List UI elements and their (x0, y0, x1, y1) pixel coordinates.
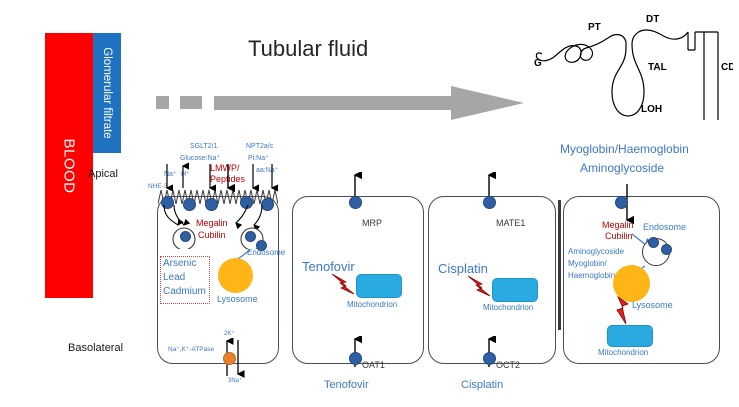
mitochondrion-cell4 (607, 325, 653, 347)
nephron-label-tal: TAL (648, 62, 667, 73)
tubular-fluid-arrow-icon (214, 86, 524, 120)
blood-label: BLOOD (61, 138, 78, 193)
substrate-aminoglycoside: Aminoglycoside (568, 247, 624, 256)
toxin-lead: Lead (163, 272, 185, 283)
substrate-myoglobin: Myoglobin/ (568, 259, 607, 268)
transporter-node-mate1[interactable] (483, 196, 496, 209)
label-oat1: OAT1 (362, 360, 385, 370)
mitochondrion-cisplatin (492, 278, 538, 302)
label-sglt: SGLT2/1 (190, 143, 218, 150)
glomerular-filtrate-compartment: Glomerular filtrate (93, 33, 121, 153)
nephron-label-dt: DT (646, 14, 659, 25)
label-megalin: Megalin (196, 218, 228, 228)
apical-arrows (158, 162, 280, 192)
label-na-k-atpase: Na⁺,K⁺-ATPase (168, 345, 214, 353)
nephron-label-loh: LOH (641, 104, 662, 115)
bottom-label-tenofovir: Tenofovir (324, 379, 369, 391)
label-aminoglycoside-top: Aminoglycoside (580, 161, 664, 175)
label-lysosome-cell1: Lysosome (217, 294, 258, 304)
basolateral-label: Basolateral (68, 342, 123, 354)
label-mitochondrion-cisplatin: Mitochondrion (483, 303, 533, 312)
nephron-label-pt: PT (588, 22, 601, 33)
label-mrp: MRP (362, 218, 382, 228)
arrow-dash-2 (180, 96, 202, 109)
label-mitochondrion-cell4: Mitochondrion (598, 348, 648, 357)
label-oct2: OCT2 (496, 360, 520, 370)
label-myoglobin-haemoglobin: Myoglobin/Haemoglobin (560, 142, 689, 156)
apical-label: Apical (88, 168, 118, 180)
label-cubilin-cell4: Cubilin (605, 231, 633, 241)
lysosome-cell1 (218, 258, 253, 293)
substrate-haemoglobin: Haemoglobin (568, 271, 615, 280)
label-endosome-cell4: Endosome (643, 222, 686, 232)
vesicle-node-right-a (245, 231, 256, 242)
glomerular-filtrate-label: Glomerular filtrate (101, 47, 113, 138)
label-mate1: MATE1 (496, 218, 525, 228)
bottom-label-cisplatin: Cisplatin (461, 379, 503, 391)
label-endosome-cell1: Endosome (247, 248, 285, 257)
label-megalin-cell4: Megalin (602, 220, 634, 230)
endosome-node-b (661, 244, 672, 255)
page-title: Tubular fluid (248, 36, 368, 62)
mitochondrion-tenofovir (356, 274, 402, 298)
label-mitochondrion-tenofovir: Mitochondrion (347, 300, 397, 309)
label-3na: 3Na⁺ (228, 377, 242, 384)
vesicle-node-left (180, 231, 191, 242)
nephron-label-cd: CD (721, 62, 733, 73)
transporter-node-oct2[interactable] (483, 352, 496, 365)
blood-compartment: BLOOD (45, 33, 93, 298)
lightning-bolt-icon-cell4 (612, 296, 634, 328)
arrow-dash-1 (156, 96, 169, 109)
nephron-label-g: G (534, 58, 542, 69)
transporter-node-mrp[interactable] (349, 196, 362, 209)
label-pi-na: Pi:Na⁺ (248, 154, 269, 162)
basolateral-membrane-marker (558, 200, 561, 330)
nephron-diagram: G PT DT TAL LOH CD (528, 8, 733, 123)
transporter-node-oat1[interactable] (349, 352, 362, 365)
label-lysosome-cell4: Lysosome (632, 300, 673, 310)
na-k-atpase-pump[interactable] (223, 352, 236, 365)
label-npt2: NPT2a/c (246, 143, 273, 150)
transporter-node-megalin-cubilin[interactable] (615, 196, 628, 209)
toxin-arsenic: Arsenic (163, 258, 196, 269)
label-cubilin: Cubilin (198, 230, 226, 240)
label-glucose-na: Glucose:Na⁺ (180, 154, 220, 162)
toxin-cadmium: Cadmium (163, 286, 206, 297)
endosome-node-a (648, 237, 659, 248)
label-2k: 2K⁺ (224, 330, 235, 337)
